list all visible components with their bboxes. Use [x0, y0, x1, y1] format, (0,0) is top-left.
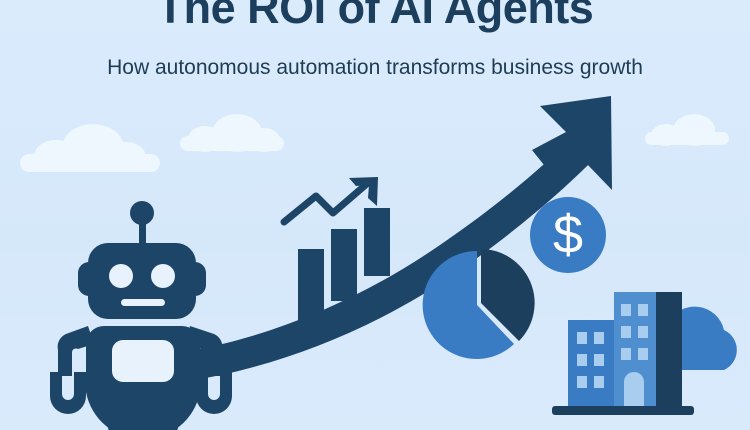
- bar-2: [331, 229, 357, 301]
- dollar-symbol: $: [553, 205, 583, 265]
- robot-head: [88, 243, 196, 319]
- robot-eye-left: [109, 264, 133, 288]
- building-base: [552, 406, 694, 415]
- robot-antenna-ball: [130, 201, 154, 225]
- office-building-icon: [552, 292, 694, 415]
- bar-3: [364, 208, 390, 276]
- robot-chest-screen: [112, 340, 174, 382]
- illustration-layer: $: [0, 0, 750, 430]
- robot-hand-left: [50, 372, 86, 414]
- infographic-poster: The ROI of AI Agents How autonomous auto…: [0, 0, 750, 430]
- robot-mouth: [121, 299, 165, 306]
- trend-line: [284, 182, 369, 222]
- robot-eye-right: [151, 264, 175, 288]
- bar-1: [298, 249, 324, 321]
- robot-hand-right: [196, 372, 232, 414]
- dollar-coin-icon: $: [530, 197, 606, 273]
- building-door: [624, 372, 644, 406]
- ai-robot: [50, 201, 232, 430]
